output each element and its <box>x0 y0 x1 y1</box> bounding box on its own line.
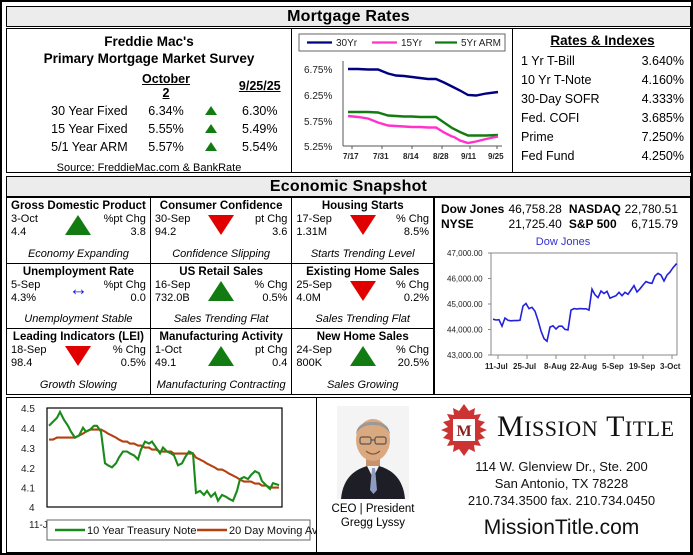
table-row: 15 Year Fixed 5.55% 5.49% <box>7 120 291 138</box>
pmms-title-line2: Primary Mortgage Market Survey <box>7 50 291 67</box>
rates-indexes-title: Rates & Indexes <box>521 33 684 48</box>
index-value: 46,758.28 <box>506 201 568 216</box>
econ-cell-footer: Unemployment Stable <box>7 313 150 325</box>
brand-mark-letter: M <box>456 423 471 440</box>
xtick-4: 9/11 <box>461 152 477 161</box>
pmms-row-previous: 6.30% <box>229 102 292 120</box>
mortgage-rates-chart: 30Yr 15Yr 5Yr ARM 6.75% 6.25% 5.75% 5.25… <box>291 28 513 173</box>
pmms-header-arrow <box>194 70 228 102</box>
dow-jones-chart-svg: Dow Jones 47,000.00 46,000.00 45,000.00 … <box>441 233 685 388</box>
econ-cell-title: Gross Domestic Product <box>11 200 146 212</box>
economic-indicator-grid: Gross Domestic Product 3-Oct %pt Chg 4.4… <box>6 197 434 395</box>
econ-cell-title: Consumer Confidence <box>155 200 288 212</box>
econ-cell-unit: %pt Chg <box>104 279 146 291</box>
rates-indexes-panel: Rates & Indexes 1 Yr T-Bill 3.640% 10 Yr… <box>513 28 691 173</box>
rates-indexes-table: 1 Yr T-Bill 3.640% 10 Yr T-Note 4.160% 3… <box>521 51 684 165</box>
treasury-note-chart-svg: 4.5 4.4 4.3 4.2 4.1 4 11-Jul 10 Year Tre… <box>7 398 316 552</box>
ytick-625: 6.25% <box>304 91 332 102</box>
ytick-44000: 44,000.00 <box>447 326 483 335</box>
econ-cell-unit: % Chg <box>113 344 146 356</box>
arrow-up-icon <box>194 138 228 156</box>
pmms-header-previous: 9/25/25 <box>229 70 292 102</box>
econ-cell-new-home-sales: New Home Sales 24-Sep % Chg 800K 20.5% S… <box>292 329 434 395</box>
econ-cell-change: 0.2% <box>404 292 429 304</box>
xtick-0: 11-Jul <box>485 362 508 371</box>
econ-cell-footer: Manufacturing Contracting <box>151 379 292 391</box>
xtick-4: 5-Sep <box>602 362 624 371</box>
xtick-0: 7/17 <box>343 152 359 161</box>
index-value: 6,715.79 <box>623 216 685 231</box>
econ-cell-retail-sales: US Retail Sales 16-Sep % Chg 732.0B 0.5%… <box>151 264 293 330</box>
series-line-10yr-treasury <box>49 412 279 501</box>
econ-cell-consumer-confidence: Consumer Confidence 30-Sep pt Chg 94.2 3… <box>151 198 293 264</box>
pmms-panel: Freddie Mac's Primary Mortgage Market Su… <box>6 28 291 173</box>
econ-cell-values: 4.0M 0.2% <box>296 292 429 304</box>
ceo-caption: CEO | President Gregg Lyssy <box>321 502 425 530</box>
econ-cell-unit: % Chg <box>396 279 429 291</box>
rate-value: 3.640% <box>627 51 684 70</box>
rate-value: 4.160% <box>627 70 684 89</box>
econ-cell-date: 3-Oct <box>11 213 38 225</box>
table-row: Dow Jones 46,758.28 NASDAQ 22,780.51 <box>441 201 685 216</box>
ytick-41: 4.1 <box>21 484 35 495</box>
econ-cell-unit: %pt Chg <box>104 213 146 225</box>
xtick-5: 19-Sep <box>629 362 655 371</box>
xtick-5: 9/25 <box>488 152 504 161</box>
table-row: 1 Yr T-Bill 3.640% <box>521 51 684 70</box>
econ-cell-title: Leading Indicators (LEI) <box>11 331 146 343</box>
table-row: 30-Day SOFR 4.333% <box>521 89 684 108</box>
brand-word-itle: ITLE <box>625 416 675 441</box>
econ-cell-date: 1-Oct <box>155 344 182 356</box>
econ-cell-title: Unemployment Rate <box>11 266 146 278</box>
econ-cell-value: 4.4 <box>11 226 26 238</box>
company-website[interactable]: MissionTitle.com <box>437 516 686 540</box>
bottom-section: 4.5 4.4 4.3 4.2 4.1 4 11-Jul 10 Year Tre… <box>6 397 691 553</box>
company-address: 114 W. Glenview Dr., Ste. 200 San Antoni… <box>437 458 686 509</box>
ytick-47000: 47,000.00 <box>447 249 483 258</box>
ytick-43: 4.3 <box>21 444 35 455</box>
brand-wordmark: MISSION TITLE <box>497 410 675 444</box>
dow-chart-title: Dow Jones <box>536 236 591 248</box>
dow-jones-panel: Dow Jones 46,758.28 NASDAQ 22,780.51 NYS… <box>434 197 691 395</box>
ytick-675: 6.75% <box>304 65 332 76</box>
econ-cell-unit: % Chg <box>396 344 429 356</box>
index-name: Dow Jones <box>441 201 506 216</box>
ytick-525: 5.25% <box>304 142 332 153</box>
ceo-role: CEO | President <box>321 502 425 516</box>
econ-cell-values: 98.4 0.5% <box>11 357 146 369</box>
econ-cell-value: 732.0B <box>155 292 190 304</box>
legend-label-30yr: 30Yr <box>336 38 358 49</box>
econ-cell-values: 49.1 0.4 <box>155 357 288 369</box>
econ-cell-meta: 16-Sep % Chg <box>155 279 288 291</box>
econ-cell-date: 30-Sep <box>155 213 190 225</box>
ytick-45: 4.5 <box>21 404 35 415</box>
rate-name: Fed. COFI <box>521 108 627 127</box>
econ-cell-footer: Sales Growing <box>292 379 433 391</box>
series-line-dow <box>493 264 677 341</box>
rate-value: 3.685% <box>627 108 684 127</box>
econ-cell-meta: 30-Sep pt Chg <box>155 213 288 225</box>
phone-line: 210.734.3500 fax. 210.734.0450 <box>437 492 686 509</box>
economic-section: Gross Domestic Product 3-Oct %pt Chg 4.4… <box>6 197 691 395</box>
ytick-45000: 45,000.00 <box>447 300 483 309</box>
rate-name: 30-Day SOFR <box>521 89 627 108</box>
econ-cell-value: 94.2 <box>155 226 176 238</box>
rate-name: 10 Yr T-Note <box>521 70 627 89</box>
econ-cell-unemployment: Unemployment Rate 5-Sep %pt Chg 4.3% 0.0… <box>7 264 151 330</box>
econ-cell-housing-starts: Housing Starts 17-Sep % Chg 1.31M 8.5% S… <box>292 198 434 264</box>
mortgage-market-dashboard: Mortgage Rates Freddie Mac's Primary Mor… <box>0 0 693 555</box>
pmms-row-current: 5.55% <box>138 120 195 138</box>
econ-cell-change: 0.5% <box>262 292 287 304</box>
econ-cell-values: 4.3% 0.0 <box>11 292 146 304</box>
econ-cell-footer: Economy Expanding <box>7 248 150 260</box>
pmms-title-line1: Freddie Mac's <box>7 33 291 50</box>
xtick-2: 8/14 <box>403 152 419 161</box>
series-line-15yr <box>348 116 498 143</box>
econ-cell-unit: % Chg <box>396 213 429 225</box>
address-line-1: 114 W. Glenview Dr., Ste. 200 <box>437 458 686 475</box>
econ-cell-meta: 17-Sep % Chg <box>296 213 429 225</box>
xtick-3: 22-Aug <box>570 362 597 371</box>
index-name: S&P 500 <box>569 216 623 231</box>
pmms-table: October 2 9/25/25 30 Year Fixed 6.34% 6.… <box>7 70 291 156</box>
pmms-row-label: 30 Year Fixed <box>7 102 138 120</box>
table-row: 5/1 Year ARM 5.57% 5.54% <box>7 138 291 156</box>
xtick-1: 7/31 <box>373 152 389 161</box>
ytick-42: 4.2 <box>21 464 35 475</box>
ceo-headshot <box>337 406 409 499</box>
econ-cell-gdp: Gross Domestic Product 3-Oct %pt Chg 4.4… <box>7 198 151 264</box>
address-line-2: San Antonio, TX 78228 <box>437 475 686 492</box>
econ-cell-footer: Sales Trending Flat <box>292 313 433 325</box>
series-line-20day-ma <box>49 430 279 488</box>
brand-lockup: M MISSION TITLE <box>435 402 687 458</box>
econ-cell-unit: pt Chg <box>255 213 287 225</box>
econ-cell-title: New Home Sales <box>296 331 429 343</box>
econ-cell-title: Manufacturing Activity <box>155 331 288 343</box>
econ-cell-date: 17-Sep <box>296 213 331 225</box>
index-value: 22,780.51 <box>623 201 685 216</box>
pmms-header-row: October 2 9/25/25 <box>7 70 291 102</box>
mission-title-logo-icon: M <box>435 402 493 458</box>
pmms-row-current: 6.34% <box>138 102 195 120</box>
econ-cell-unit: pt Chg <box>255 344 287 356</box>
econ-cell-meta: 5-Sep %pt Chg <box>11 279 146 291</box>
company-panel: CEO | President Gregg Lyssy M MISSION TI… <box>317 397 691 553</box>
econ-cell-values: 732.0B 0.5% <box>155 292 288 304</box>
econ-cell-change: 3.8 <box>131 226 146 238</box>
econ-cell-value: 4.0M <box>296 292 320 304</box>
legend-label-20day-ma: 20 Day Moving Ave <box>229 525 316 537</box>
econ-cell-change: 8.5% <box>404 226 429 238</box>
table-row: Fed. COFI 3.685% <box>521 108 684 127</box>
pmms-row-label: 15 Year Fixed <box>7 120 138 138</box>
legend-label-15yr: 15Yr <box>401 38 423 49</box>
econ-cell-date: 25-Sep <box>296 279 331 291</box>
rate-value: 7.250% <box>627 127 684 146</box>
brand-word-m: M <box>497 410 524 443</box>
ytick-40: 4 <box>29 503 35 514</box>
econ-cell-title: Housing Starts <box>296 200 429 212</box>
econ-cell-leading-indicators: Leading Indicators (LEI) 18-Sep % Chg 98… <box>7 329 151 395</box>
econ-cell-date: 24-Sep <box>296 344 331 356</box>
pmms-row-previous: 5.49% <box>229 120 292 138</box>
market-indexes-table: Dow Jones 46,758.28 NASDAQ 22,780.51 NYS… <box>441 201 685 231</box>
mortgage-rates-chart-svg: 30Yr 15Yr 5Yr ARM 6.75% 6.25% 5.75% 5.25… <box>292 29 512 172</box>
econ-cell-footer: Sales Trending Flat <box>151 313 292 325</box>
econ-cell-values: 4.4 3.8 <box>11 226 146 238</box>
econ-cell-values: 94.2 3.6 <box>155 226 288 238</box>
econ-cell-footer: Growth Slowing <box>7 379 150 391</box>
econ-cell-values: 800K 20.5% <box>296 357 429 369</box>
econ-cell-title: US Retail Sales <box>155 266 288 278</box>
xtick-2: 8-Aug <box>544 362 567 371</box>
econ-cell-date: 16-Sep <box>155 279 190 291</box>
rate-name: Fed Fund <box>521 146 627 165</box>
xtick-1: 25-Jul <box>513 362 536 371</box>
econ-cell-meta: 24-Sep % Chg <box>296 344 429 356</box>
econ-cell-value: 98.4 <box>11 357 32 369</box>
ceo-name: Gregg Lyssy <box>321 516 425 530</box>
economic-snapshot-banner: Economic Snapshot <box>6 176 691 197</box>
econ-cell-title: Existing Home Sales <box>296 266 429 278</box>
index-name: NYSE <box>441 216 506 231</box>
econ-cell-meta: 18-Sep % Chg <box>11 344 146 356</box>
pmms-header-blank <box>7 70 138 102</box>
mortgage-rates-banner: Mortgage Rates <box>6 6 691 27</box>
treasury-note-chart: 4.5 4.4 4.3 4.2 4.1 4 11-Jul 10 Year Tre… <box>6 397 317 553</box>
pmms-source: Source: FreddieMac.com & BankRate <box>7 162 291 174</box>
rate-name: 1 Yr T-Bill <box>521 51 627 70</box>
xtick-3: 8/28 <box>433 152 449 161</box>
econ-cell-value: 4.3% <box>11 292 36 304</box>
table-row: NYSE 21,725.40 S&P 500 6,715.79 <box>441 216 685 231</box>
econ-cell-date: 5-Sep <box>11 279 40 291</box>
ytick-46000: 46,000.00 <box>447 275 483 284</box>
rate-name: Prime <box>521 127 627 146</box>
pmms-row-previous: 5.54% <box>229 138 292 156</box>
brand-word-t: T <box>606 410 625 443</box>
table-row: 10 Yr T-Note 4.160% <box>521 70 684 89</box>
table-row: Prime 7.250% <box>521 127 684 146</box>
econ-cell-footer: Confidence Slipping <box>151 248 292 260</box>
pmms-row-current: 5.57% <box>138 138 195 156</box>
table-row: Fed Fund 4.250% <box>521 146 684 165</box>
econ-cell-change: 0.0 <box>131 292 146 304</box>
table-row: 30 Year Fixed 6.34% 6.30% <box>7 102 291 120</box>
legend-label-5yrarm: 5Yr ARM <box>461 38 501 49</box>
econ-cell-unit: % Chg <box>254 279 287 291</box>
econ-cell-manufacturing: Manufacturing Activity 1-Oct pt Chg 49.1… <box>151 329 293 395</box>
econ-cell-change: 3.6 <box>272 226 287 238</box>
index-name: NASDAQ <box>569 201 623 216</box>
top-section: Freddie Mac's Primary Mortgage Market Su… <box>6 28 691 173</box>
arrow-up-icon <box>194 120 228 138</box>
brand-word-ission: ISSION <box>524 416 598 441</box>
econ-cell-change: 0.4 <box>272 357 287 369</box>
ytick-575: 5.75% <box>304 117 332 128</box>
econ-cell-footer: Starts Trending Level <box>292 248 433 260</box>
econ-cell-existing-home-sales: Existing Home Sales 25-Sep % Chg 4.0M 0.… <box>292 264 434 330</box>
econ-cell-value: 800K <box>296 357 322 369</box>
xtick-6: 3-Oct <box>660 362 681 371</box>
econ-cell-value: 1.31M <box>296 226 327 238</box>
econ-cell-meta: 25-Sep % Chg <box>296 279 429 291</box>
series-line-30yr <box>348 69 498 96</box>
ytick-44: 4.4 <box>21 424 35 435</box>
econ-cell-change: 0.5% <box>121 357 146 369</box>
econ-cell-meta: 3-Oct %pt Chg <box>11 213 146 225</box>
econ-cell-date: 18-Sep <box>11 344 46 356</box>
series-line-5yrarm <box>348 112 498 136</box>
arrow-up-icon <box>194 102 228 120</box>
econ-cell-change: 20.5% <box>398 357 429 369</box>
rate-value: 4.333% <box>627 89 684 108</box>
pmms-header-current: October 2 <box>138 70 195 102</box>
pmms-row-label: 5/1 Year ARM <box>7 138 138 156</box>
rate-value: 4.250% <box>627 146 684 165</box>
legend-label-10yr-treasury: 10 Year Treasury Note <box>87 525 196 537</box>
ytick-43000: 43,000.00 <box>447 351 483 360</box>
avatar <box>337 406 409 499</box>
econ-cell-meta: 1-Oct pt Chg <box>155 344 288 356</box>
econ-cell-value: 49.1 <box>155 357 176 369</box>
index-value: 21,725.40 <box>506 216 568 231</box>
econ-cell-values: 1.31M 8.5% <box>296 226 429 238</box>
